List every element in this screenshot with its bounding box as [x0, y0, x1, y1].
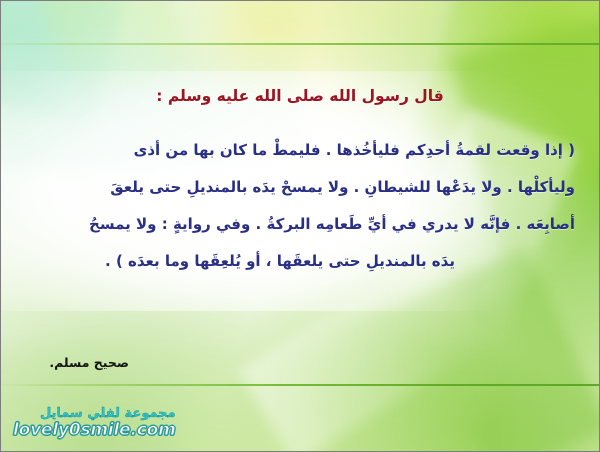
hadith-line: وليأكلْها . ولا يدَعْها للشيطانِ . ولا ي…: [25, 169, 575, 206]
source-attribution: صحيح مسلم.: [49, 355, 129, 370]
watermark-arabic-label: مجموعة لفلي سمايل: [13, 407, 176, 420]
hadith-line: ( إذا وقعت لقمةُ أحدِكم فليأخُذها . فليم…: [25, 132, 575, 169]
watermark: مجموعة لفلي سمايل lovely0smile.com: [13, 407, 176, 439]
watermark-url-label: lovely0smile.com: [13, 422, 176, 439]
hadith-card: قال رسول الله صلى الله عليه وسلم : ( إذا…: [0, 0, 600, 452]
divider-top: [1, 43, 599, 45]
hadith-text: ( إذا وقعت لقمةُ أحدِكم فليأخُذها . فليم…: [25, 132, 575, 280]
divider-bottom: [1, 384, 599, 386]
hadith-line: يدَه بالمنديلِ حتى يلعقَها ، أو يُلعِقَه…: [25, 243, 575, 280]
page-title: قال رسول الله صلى الله عليه وسلم :: [1, 87, 599, 105]
hadith-line: أصابِعَه . فإنَّه لا يدري في أيِّ طَعامِ…: [25, 206, 575, 243]
